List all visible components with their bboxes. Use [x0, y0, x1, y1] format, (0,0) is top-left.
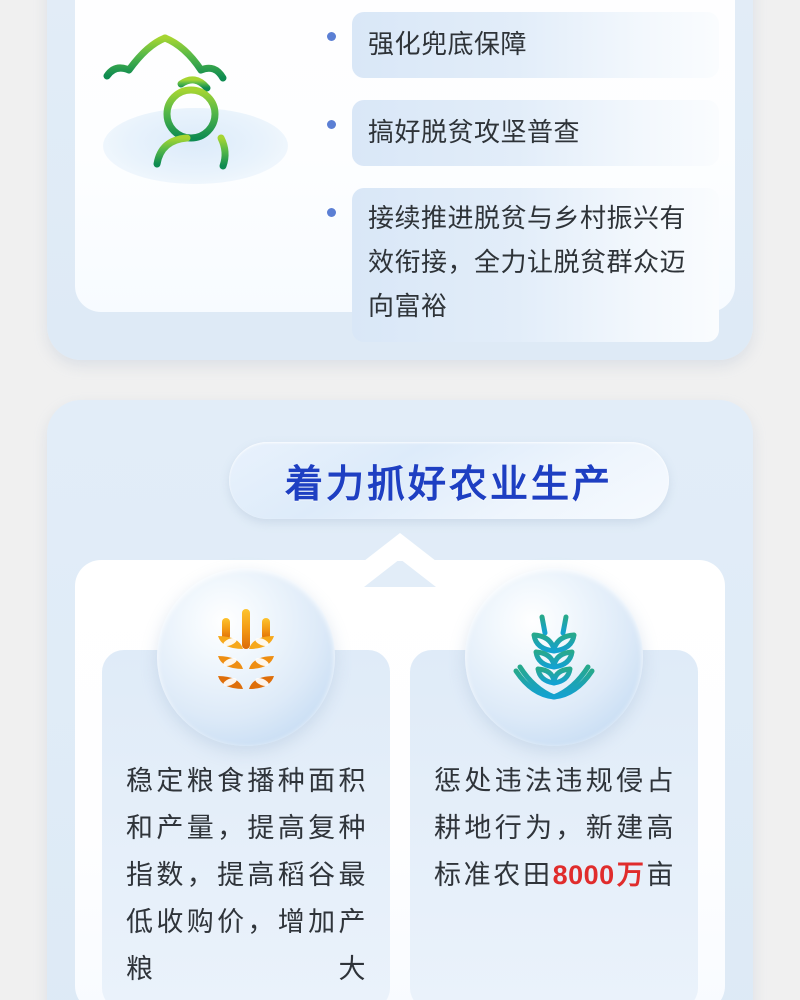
- subcard-text-highlight-1: 8000万: [553, 860, 647, 890]
- bullet-list: 强化兜底保障 搞好脱贫攻坚普查 接续推进脱贫与乡村振兴有效衔接，全力让脱贫群众迈…: [327, 12, 719, 364]
- bullet-dot-icon: [327, 208, 336, 217]
- section-heading-pill: 着力抓好农业生产: [229, 442, 669, 519]
- agriculture-subcard-text-1: 惩处违法违规侵占耕地行为，新建高标准农田8000万亩: [434, 758, 674, 899]
- bullet-item-2: 接续推进脱贫与乡村振兴有效衔接，全力让脱贫群众迈向富裕: [327, 188, 719, 342]
- agriculture-subcard-text-0: 稳定粮食播种面积和产量，提高复种指数，提高稻谷最低收购价，增加产粮大: [126, 758, 366, 993]
- card-notch: [364, 559, 436, 587]
- section-heading-text: 着力抓好农业生产: [285, 453, 613, 508]
- card-notch-highlight: [364, 533, 436, 561]
- agriculture-subcard-list: 稳定粮食播种面积和产量，提高复种指数，提高稻谷最低收购价，增加产粮大: [102, 650, 698, 1000]
- bullet-text-2: 接续推进脱贫与乡村振兴有效衔接，全力让脱贫群众迈向富裕: [352, 188, 719, 342]
- pavilion-person-glyph: [95, 30, 295, 190]
- bullet-dot-icon: [327, 32, 336, 41]
- bullet-item-1: 搞好脱贫攻坚普查: [327, 100, 719, 166]
- subcard-text-prefix-0: 稳定粮食播种面积和产量，提高复种指数，提高稻谷最低收购价，增加产粮大: [126, 766, 366, 984]
- wheat-field-icon: [465, 568, 643, 746]
- agriculture-production-section: 着力抓好农业生产: [47, 400, 753, 1000]
- bullet-text-1: 搞好脱贫攻坚普查: [352, 100, 719, 166]
- agriculture-card: 稳定粮食播种面积和产量，提高复种指数，提高稻谷最低收购价，增加产粮大: [75, 560, 725, 1000]
- bullet-text-0: 强化兜底保障: [352, 12, 719, 78]
- pavilion-person-icon: [95, 30, 295, 190]
- poverty-alleviation-card: 强化兜底保障 搞好脱贫攻坚普查 接续推进脱贫与乡村振兴有效衔接，全力让脱贫群众迈…: [75, 0, 735, 312]
- bullet-item-0: 强化兜底保障: [327, 12, 719, 78]
- bullet-dot-icon: [327, 120, 336, 129]
- agriculture-subcard-1: 惩处违法违规侵占耕地行为，新建高标准农田8000万亩: [410, 650, 698, 1000]
- agriculture-subcard-0: 稳定粮食播种面积和产量，提高复种指数，提高稻谷最低收购价，增加产粮大: [102, 650, 390, 1000]
- wheat-field-glyph: [502, 605, 606, 709]
- wheat-ear-glyph: [198, 605, 294, 709]
- poverty-alleviation-section: 强化兜底保障 搞好脱贫攻坚普查 接续推进脱贫与乡村振兴有效衔接，全力让脱贫群众迈…: [47, 0, 753, 360]
- wheat-ear-icon: [157, 568, 335, 746]
- subcard-text-suffix-1: 亩: [647, 860, 675, 890]
